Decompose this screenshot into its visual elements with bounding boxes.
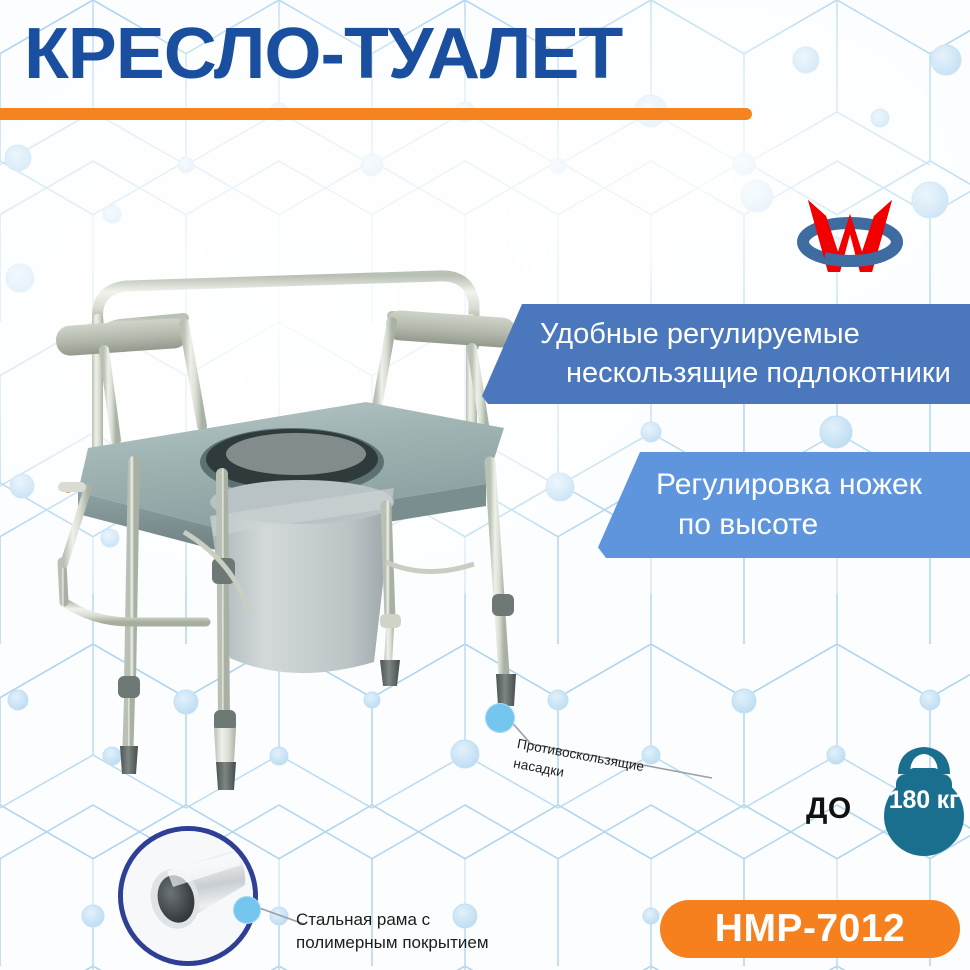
feature-banner-armrests-line1: Удобные регулируемые — [540, 315, 970, 354]
steel-tube-illustration — [123, 831, 253, 961]
weight-capacity-value: 180 кг — [872, 786, 970, 815]
callout-dot-feet — [485, 703, 515, 733]
page-title: КРЕСЛО-ТУАЛЕТ — [24, 18, 622, 90]
callout-dot-steel-frame — [233, 896, 261, 924]
title-underline-bar — [0, 108, 752, 120]
feature-banner-legs: Регулировка ножек по высоте — [598, 452, 970, 558]
callout-steel-frame: Стальная рама с полимерным покрытием — [296, 908, 489, 955]
feature-banner-legs-line1: Регулировка ножек — [656, 465, 970, 505]
feature-banner-armrests: Удобные регулируемые нескользящие подлок… — [482, 304, 970, 404]
weight-capacity-prefix: ДО — [806, 792, 852, 826]
feature-banner-armrests-line2: нескользящие подлокотники — [540, 354, 970, 393]
commode-chair-photo — [34, 262, 554, 792]
feature-banner-legs-line2: по высоте — [656, 505, 970, 545]
product-banner: КРЕСЛО-ТУАЛЕТ — [0, 0, 970, 970]
model-code-badge: HMP-7012 — [660, 900, 960, 958]
callout-steel-frame-line1: Стальная рама с — [296, 908, 489, 931]
m-logo — [790, 180, 910, 280]
steel-tube-inset-photo — [118, 826, 258, 966]
callout-steel-frame-line2: полимерным покрытием — [296, 931, 489, 954]
